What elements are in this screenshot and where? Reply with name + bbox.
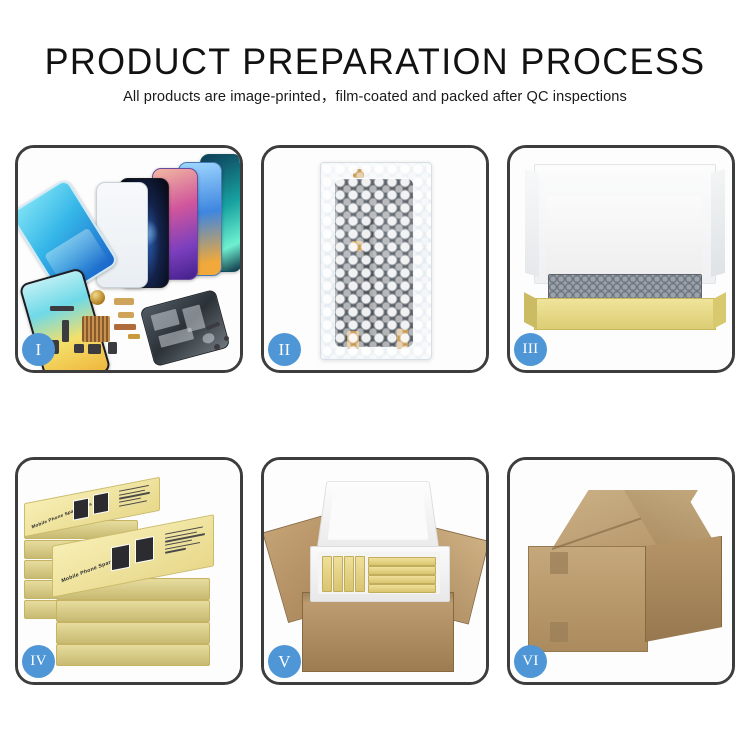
packed-box-1: [322, 556, 332, 592]
step-panel-border: V: [261, 457, 489, 685]
packed-box-4: [355, 556, 365, 592]
step-image-open-yellow-box-with-foam: [510, 148, 732, 370]
step-card-2: II: [261, 145, 489, 373]
packed-box-3: [344, 556, 354, 592]
box-thumbnail-front-1: [111, 544, 130, 572]
page-subtitle: All products are image-printed，film-coat…: [0, 88, 750, 107]
part-gold-contact: [128, 334, 140, 339]
bubble-wrap-bag: [320, 162, 432, 360]
box-thumbnail-rear-1: [73, 498, 89, 521]
sealed-carton: [528, 490, 720, 656]
step-image-sealed-shipping-carton: [510, 460, 732, 682]
part-camera-module: [74, 344, 84, 353]
foam-lid: [317, 481, 439, 548]
part-side-key: [62, 320, 69, 342]
step-badge-5: V: [268, 645, 301, 678]
step-badge-1: I: [22, 333, 55, 366]
part-screw-2: [224, 336, 229, 341]
packed-box-5: [368, 557, 436, 566]
box-stack: Mobile Phone Spare Parts: [20, 474, 240, 674]
carton-body: [302, 592, 454, 672]
step-badge-4: IV: [22, 645, 55, 678]
step-panel-border: VI: [507, 457, 735, 685]
stacked-box-front-2: [56, 600, 210, 622]
box-thumbnail-rear-2: [93, 492, 109, 515]
vibration-motor: [90, 290, 105, 305]
page-title: PRODUCT PREPARATION PROCESS: [11, 42, 739, 82]
carton-side-face: [645, 536, 722, 642]
step-card-3: III: [507, 145, 735, 373]
packed-box-8: [368, 584, 436, 593]
carton-tape-lower: [550, 622, 568, 642]
step-badge-2: II: [268, 333, 301, 366]
box-spec-lines-rear: [119, 484, 153, 509]
foam-sheet: [546, 196, 702, 280]
step-card-1: I: [15, 145, 243, 373]
carton-tape-upper: [550, 552, 568, 574]
box-thumbnail-front-2: [135, 536, 154, 564]
packed-box-7: [368, 575, 436, 584]
box-spec-lines-front: [165, 526, 207, 556]
part-speaker: [88, 344, 101, 354]
foam-cavity: [318, 552, 440, 594]
packed-box-6: [368, 566, 436, 575]
step-image-stacked-retail-boxes: Mobile Phone Spare Parts: [18, 460, 240, 682]
step-panel-border: III: [507, 145, 735, 373]
process-steps-grid: I II: [15, 145, 735, 690]
carton-front-face: [528, 546, 648, 652]
step-panel-border: I: [15, 145, 243, 373]
phone-chassis-opened: [140, 289, 231, 367]
step-card-5: V: [261, 457, 489, 685]
screen-protector-glass: [96, 182, 148, 288]
step-panel-border: Mobile Phone Spare Parts: [15, 457, 243, 685]
step-image-components-and-screens: [18, 148, 240, 370]
product-preparation-infographic: PRODUCT PREPARATION PROCESS All products…: [0, 0, 750, 750]
step-card-4: Mobile Phone Spare Parts: [15, 457, 243, 685]
stacked-box-front-3: [56, 622, 210, 644]
step-badge-6: VI: [514, 645, 547, 678]
shield-mesh-component: [82, 316, 110, 342]
step-image-carton-packing: [264, 460, 486, 682]
part-taptic: [108, 342, 117, 354]
step-card-6: VI: [507, 457, 735, 685]
yellow-box-base: [534, 298, 716, 330]
part-flex-cable-1: [114, 298, 134, 305]
packed-box-2: [333, 556, 343, 592]
step-image-bubble-wrapped-screen: [264, 148, 486, 370]
bubble-texture-highlight: [321, 163, 431, 359]
part-flex-cable-2: [118, 312, 134, 318]
part-connector-bar: [50, 306, 74, 311]
part-copper-strip: [114, 324, 136, 330]
step-panel-border: II: [261, 145, 489, 373]
stacked-box-front-4: [56, 644, 210, 666]
step-badge-3: III: [514, 333, 547, 366]
part-screw-1: [214, 344, 220, 350]
